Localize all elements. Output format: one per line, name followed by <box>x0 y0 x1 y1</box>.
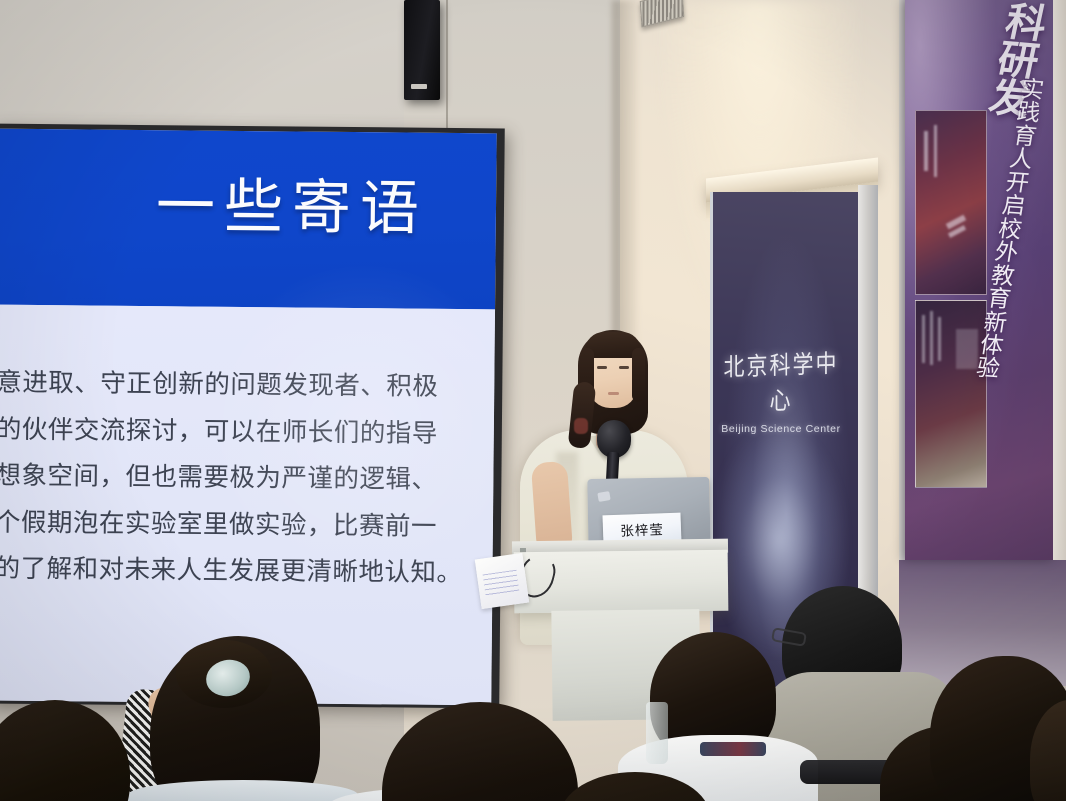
slide-body-line: 人的了解和对未来人生发展更清晰地认知。 <box>0 556 493 587</box>
lanyard-icon <box>700 742 766 756</box>
backdrop-title-cn: 北京科学中心 <box>716 344 846 419</box>
nameplate-text: 张梓莹 <box>620 518 664 540</box>
vertical-banner: 科研发 实践育人开启校外教育新体验 <box>905 0 1055 560</box>
slide-body-line: 整个假期泡在实验室里做实验，比赛前一 <box>0 510 493 541</box>
banner-right-edge <box>1053 0 1066 560</box>
projection-screen: 一些寄语 锐意进取、守正创新的问题发现者、积极 合的伙伴交流探讨，可以在师长们的… <box>0 124 505 709</box>
water-bottle-icon <box>646 702 668 764</box>
slide-body-line: 的想象空间，但也需要极为严谨的逻辑、 <box>0 463 494 494</box>
presenter-eye-right <box>619 366 629 369</box>
presenter-hair-tie <box>574 418 588 434</box>
banner-photo-bottom <box>915 300 987 488</box>
podium-paper-text <box>483 570 520 597</box>
presenter-hair-right <box>632 348 645 402</box>
slide-body-line: 合的伙伴交流探讨，可以在师长们的指导 <box>0 417 494 448</box>
slide-title: 一些寄语 <box>0 175 496 239</box>
presenter-eye-left <box>597 366 607 369</box>
presenter-mouth <box>608 392 619 395</box>
banner-photo-top <box>915 110 987 295</box>
backdrop-title-en: Beijing Science Center <box>716 423 846 435</box>
presentation-photo: 北京科学中心 Beijing Science Center 科研发 实践育人开启… <box>0 0 1066 801</box>
slide-surface: 一些寄语 锐意进取、守正创新的问题发现者、积极 合的伙伴交流探讨，可以在师长们的… <box>0 129 497 706</box>
speaker-badge <box>411 84 427 89</box>
slide-body-line: 锐意进取、守正创新的问题发现者、积极 <box>0 370 494 401</box>
